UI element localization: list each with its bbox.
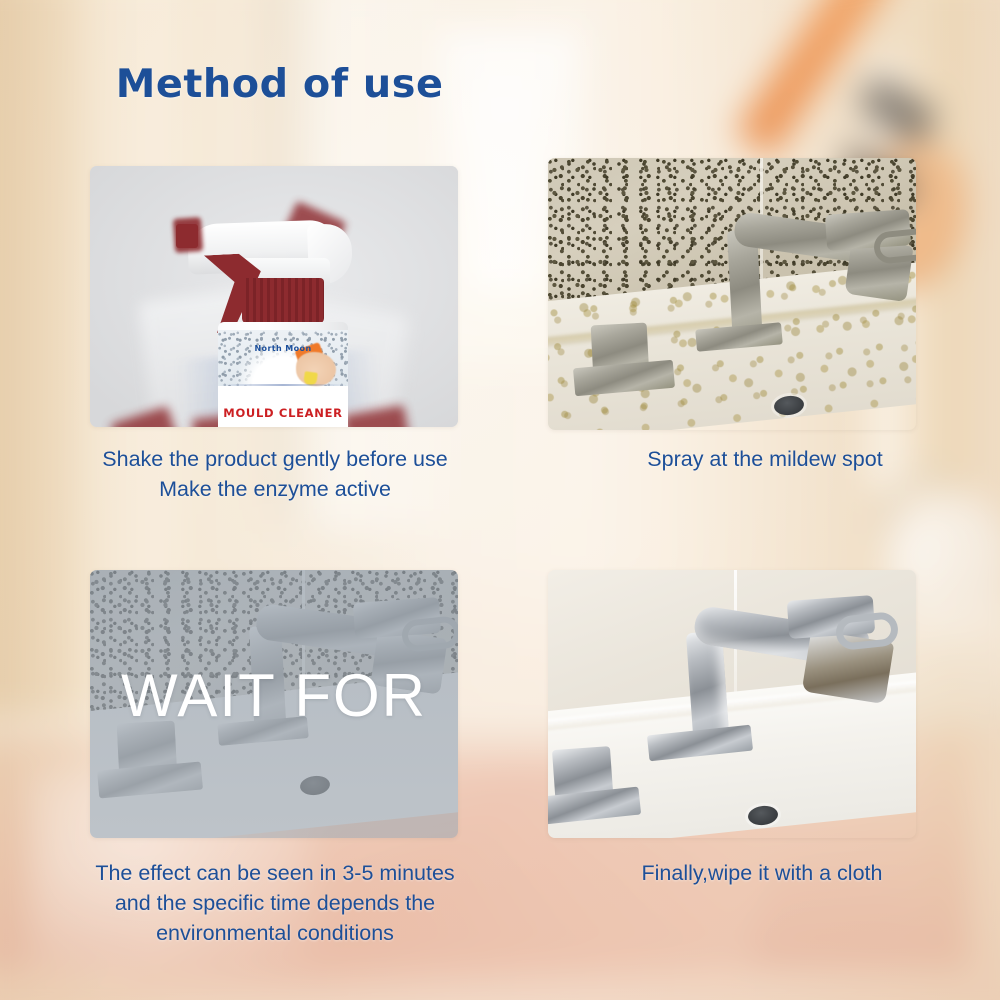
caption-line: Finally,wipe it with a cloth [552,858,972,888]
step-image-spray[interactable] [548,158,916,430]
page-title: Method of use [116,62,444,107]
content-root: Method of use North Moon MOULD CLEA [0,0,1000,1000]
caption-line: and the specific time depends the [35,888,515,918]
caption-line: environmental conditions [35,918,515,948]
caption-wait: The effect can be seen in 3-5 minutes an… [35,858,515,948]
step-image-shake[interactable]: North Moon MOULD CLEANER [90,166,458,427]
faucet-scene-dirty [548,158,916,430]
faucet-scene-clean [548,570,916,838]
caption-line: Shake the product gently before use [40,444,510,474]
wait-for-text: WAIT FOR [90,666,458,726]
spray-collar [242,278,324,324]
label-divider [218,384,348,386]
product-label: North Moon MOULD CLEANER [218,330,348,427]
caption-wipe: Finally,wipe it with a cloth [552,858,972,888]
step-image-wait[interactable]: WAIT FOR [90,570,458,838]
caption-spray: Spray at the mildew spot [555,444,975,474]
caption-line: The effect can be seen in 3-5 minutes [35,858,515,888]
step-image-wipe[interactable] [548,570,916,838]
spray-nozzle [176,224,198,248]
caption-line: Make the enzyme active [40,474,510,504]
caption-line: Spray at the mildew spot [555,444,975,474]
caption-shake: Shake the product gently before use Make… [40,444,510,504]
product-name: MOULD CLEANER [218,406,348,420]
product-brand: North Moon [218,344,348,353]
